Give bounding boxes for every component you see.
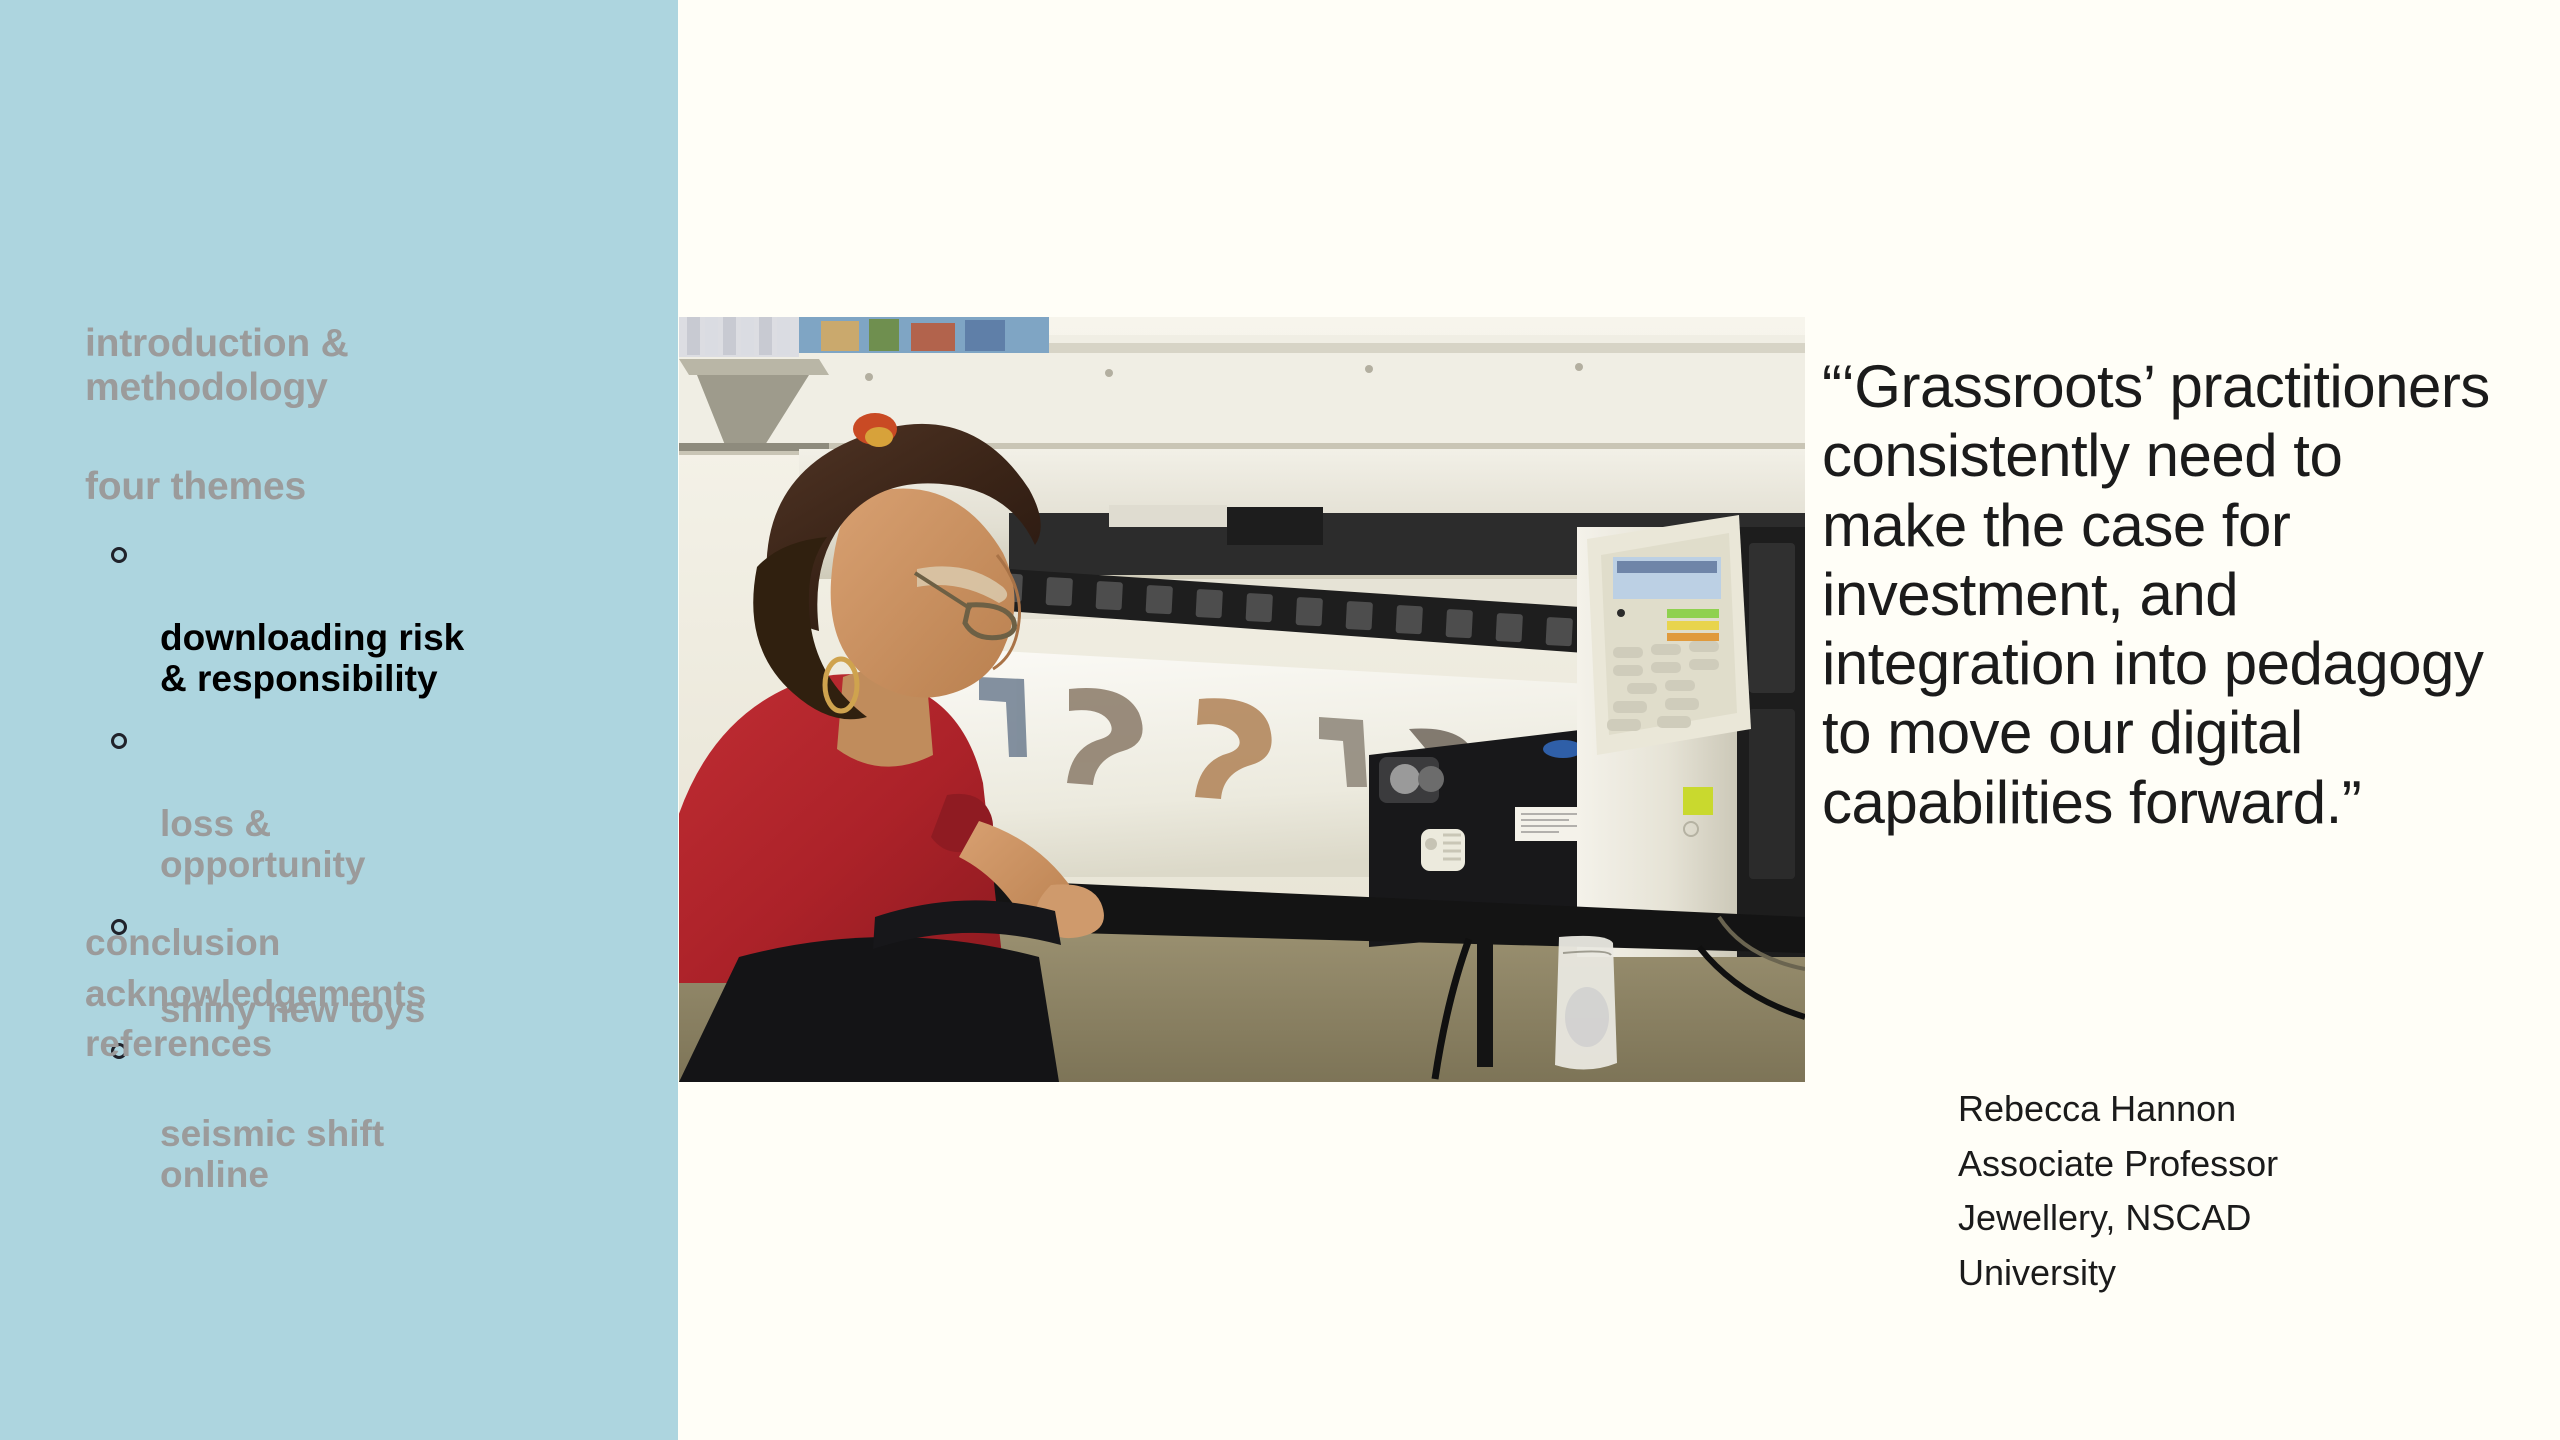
theme-label: loss & opportunity <box>160 803 366 885</box>
agenda-item-introduction-methodology[interactable]: introduction & methodology <box>85 322 645 409</box>
circle-bullet-icon <box>111 547 127 563</box>
printer-handle <box>1421 829 1465 871</box>
hair-tie-accent-icon <box>865 427 893 447</box>
theme-label: seismic shift online <box>160 1113 384 1195</box>
lcd-line <box>1617 561 1717 573</box>
stand-leg <box>1477 917 1493 1067</box>
artwork-on-wall <box>799 317 1049 353</box>
circle-bullet-icon <box>111 733 127 749</box>
agenda-list: introduction & methodology four themes d… <box>85 322 645 1218</box>
screw-icon <box>1365 365 1373 373</box>
wide-format-inkjet-printer-photo <box>679 317 1805 1082</box>
feed-slot-dark-tab <box>1227 507 1323 545</box>
power-led-icon <box>1617 609 1625 617</box>
presentation-slide: introduction & methodology four themes d… <box>0 0 2560 1440</box>
themes-sublist: downloading risk & responsibility loss &… <box>85 537 645 1195</box>
status-led-yellow <box>1667 621 1719 630</box>
agenda-spacer-2 <box>85 509 645 537</box>
waste-ink-bottle <box>1555 936 1617 1070</box>
status-led-green <box>1667 609 1719 618</box>
status-indicator-green-square <box>1683 787 1713 815</box>
theme-item-loss-opportunity[interactable]: loss & opportunity <box>85 723 645 886</box>
agenda-spacer-1 <box>85 409 645 465</box>
screw-icon <box>1105 369 1113 377</box>
vent-holes <box>1749 543 1795 879</box>
printer-control-panel[interactable] <box>1587 515 1751 755</box>
screw-icon <box>1575 363 1583 371</box>
roller-hub-icon <box>1418 766 1444 792</box>
carriage-bracket <box>679 359 829 375</box>
agenda-item-four-themes[interactable]: four themes <box>85 465 645 509</box>
agenda-tail-items[interactable]: conclusion acknowledgements references <box>85 918 426 1070</box>
status-led-orange <box>1667 633 1719 641</box>
theme-item-downloading-risk-responsibility[interactable]: downloading risk & responsibility <box>85 537 645 700</box>
pull-quote-text: “‘Grassroots’ practitioners consistently… <box>1822 352 2502 837</box>
quote-attribution: Rebecca Hannon Associate Professor Jewel… <box>1958 1082 2518 1301</box>
agenda-sidebar: introduction & methodology four themes d… <box>0 0 678 1440</box>
photo-illustration <box>679 317 1805 1082</box>
theme-label: downloading risk & responsibility <box>160 617 464 699</box>
screw-icon <box>865 373 873 381</box>
feed-slot-tab <box>1109 505 1227 527</box>
roller-hub-icon <box>1390 764 1420 794</box>
